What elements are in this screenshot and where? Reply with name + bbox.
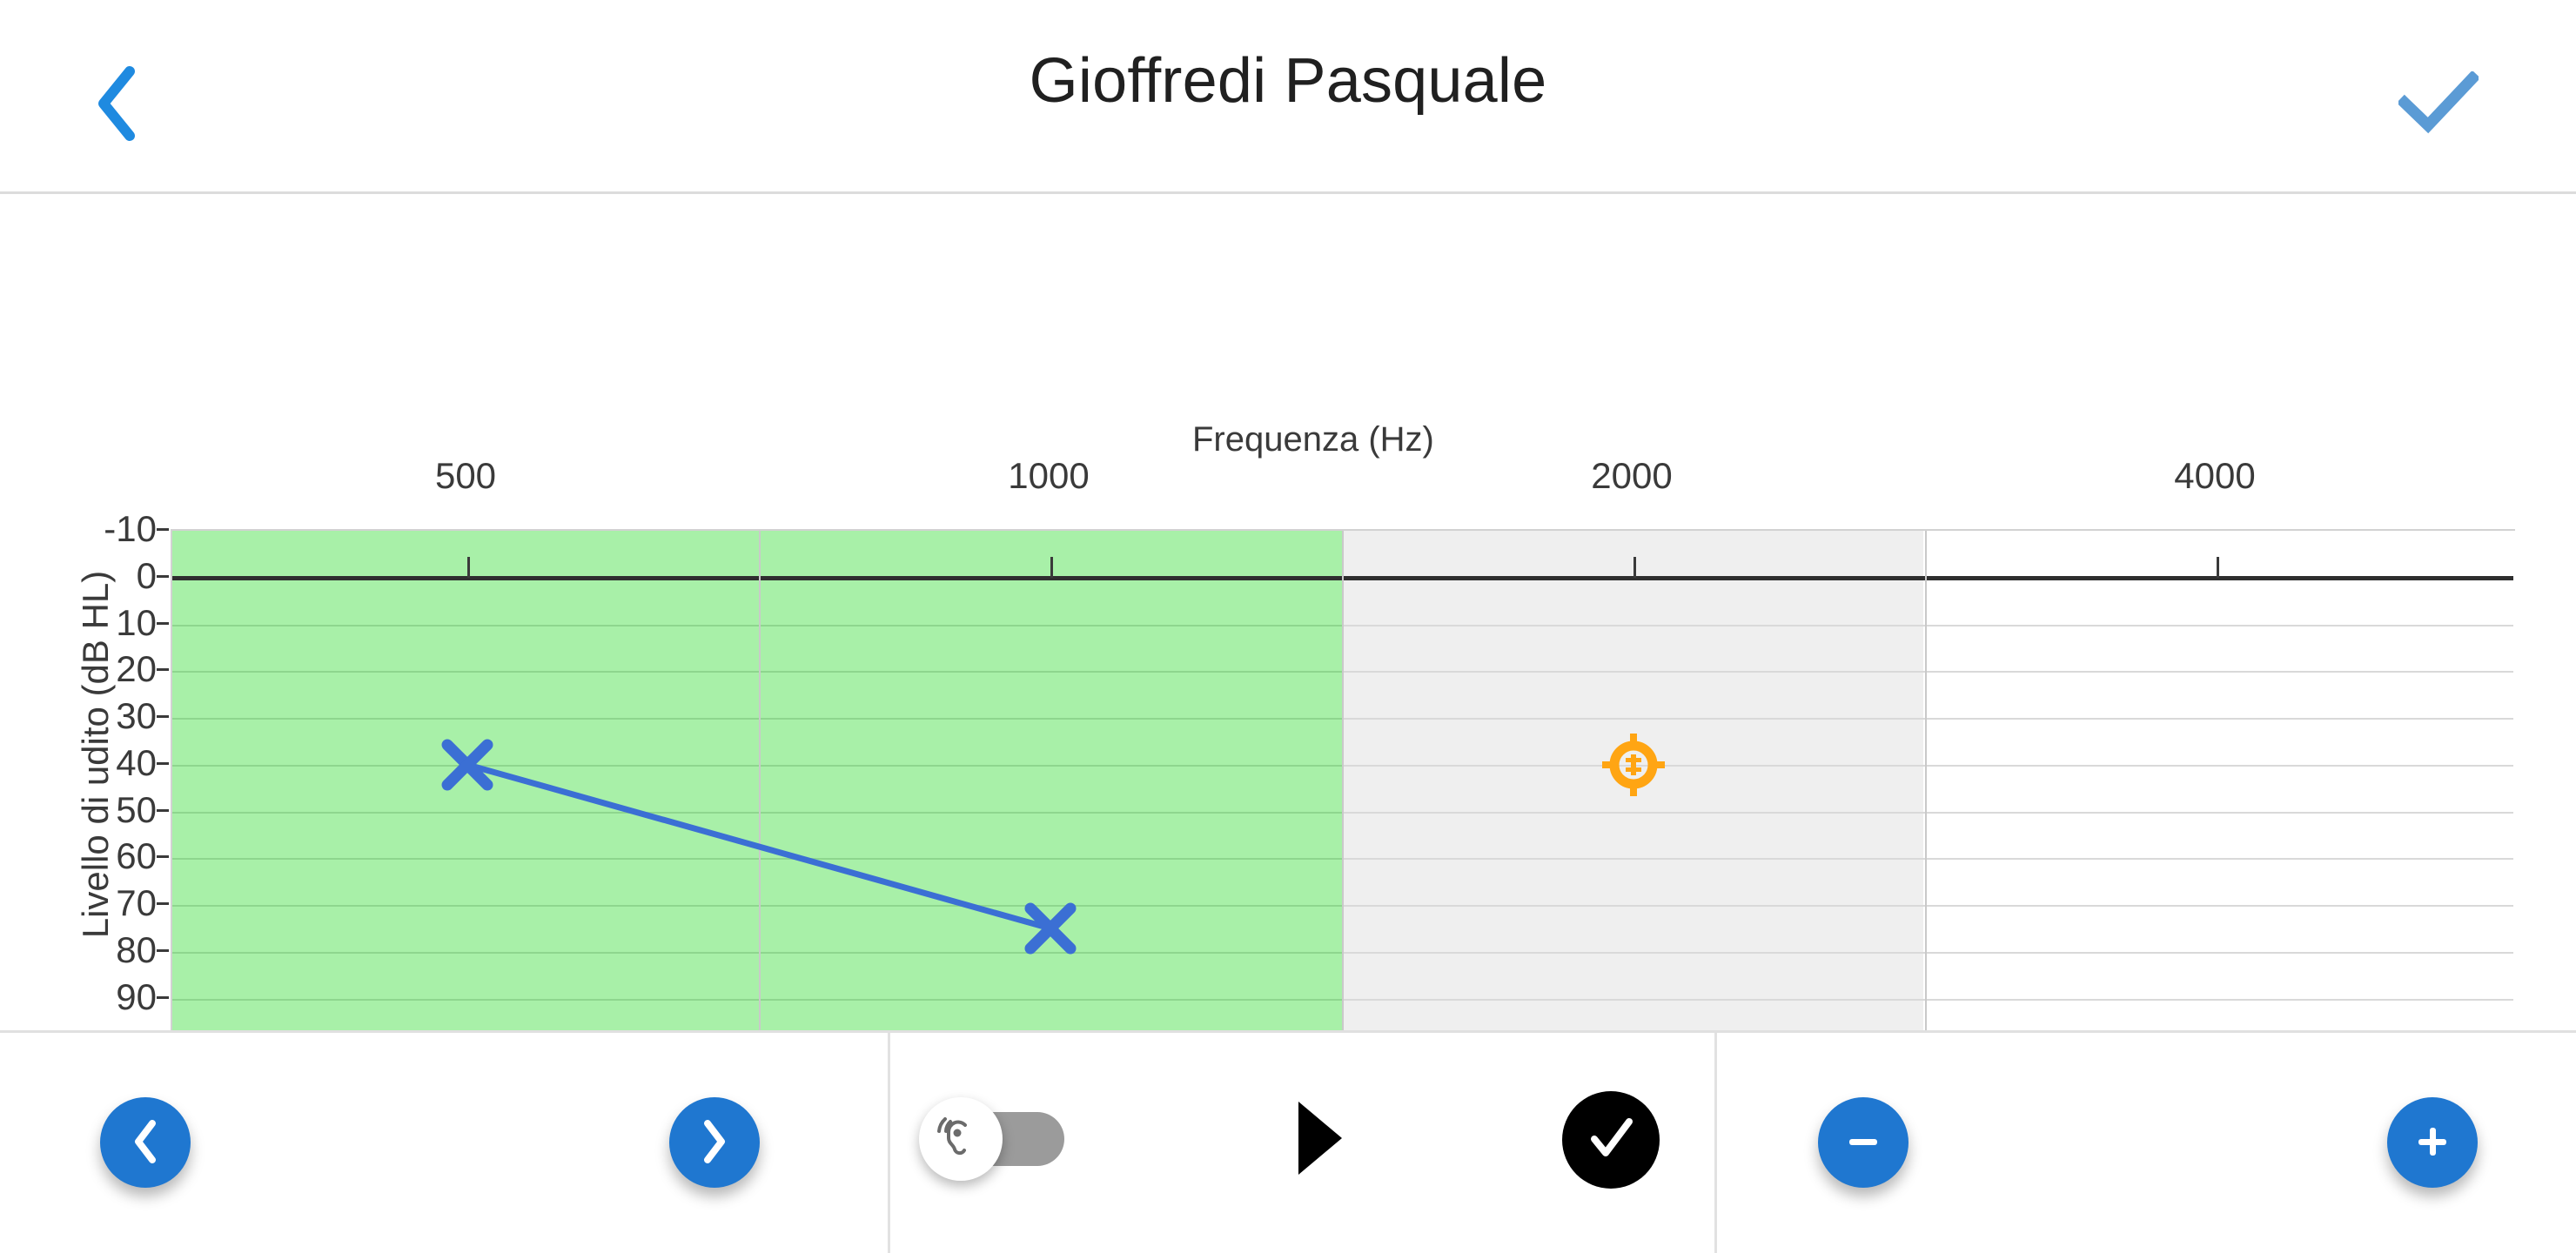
current-test-cursor[interactable] [1602,734,1665,796]
y-tick-label-0: 0 [9,555,157,597]
x-tick-mark-2000 [1633,557,1636,578]
y-tick-label-70: 70 [9,882,157,924]
data-point-marker[interactable] [1022,900,1079,957]
response-confirm-button[interactable] [1562,1091,1660,1189]
y-tick-mark-60 [157,855,169,858]
y-tick-label-20: 20 [9,648,157,690]
transducer-toggle[interactable] [956,1112,1064,1166]
audiometry-screen: Gioffredi Pasquale Frequenza (Hz) Livell… [0,0,2576,1253]
bottom-control-bar: Frequenza 2000 Hz [0,1033,2576,1253]
page-title: Gioffredi Pasquale [0,45,2576,117]
pressure-minus-button[interactable] [1818,1097,1909,1188]
gridline-green-90 [172,999,1344,1001]
divider-left [888,1033,890,1253]
gridline-green-30 [172,718,1344,720]
ear-hearing-icon [936,1113,985,1166]
check-icon [2398,71,2479,138]
y-tick-mark-20 [157,668,169,671]
plus-icon [2412,1122,2452,1164]
gridline-green-80 [172,952,1344,954]
x-tick-mark-500 [467,557,470,578]
x-tick-label-2000: 2000 [1591,455,1672,497]
frequency-next-button[interactable] [669,1097,760,1188]
confirm-button[interactable] [2395,61,2482,148]
x-tick-label-500: 500 [435,455,496,497]
y-tick-mark-70 [157,902,169,905]
gridline-green-20 [172,671,1344,673]
gridline-green-10 [172,625,1344,626]
divider-right [1714,1033,1717,1253]
gridline-green-60 [172,858,1344,860]
y-tick-mark-50 [157,809,169,812]
y-tick-mark-10 [157,622,169,625]
x-tick-mark-1000 [1050,557,1053,578]
x-tick-label-1000: 1000 [1008,455,1089,497]
data-point-marker[interactable] [439,736,496,794]
gridline-green-50 [172,812,1344,814]
frequency-prev-button[interactable] [100,1097,191,1188]
x-tick-mark-4000 [2217,557,2219,578]
x-axis-title: Frequenza (Hz) [1192,420,1434,459]
y-tick-label-10: 10 [9,602,157,644]
chevron-left-icon [131,1119,160,1167]
pressure-plus-button[interactable] [2387,1097,2478,1188]
y-tick-label-90: 90 [9,976,157,1018]
y-tick-mark-30 [157,715,169,718]
audiogram-chart: Frequenza (Hz) Livello di udito (dB HL) … [0,194,2576,1031]
y-tick-label-60: 60 [9,835,157,877]
y-tick-mark--10 [157,528,169,531]
y-tick-label-30: 30 [9,695,157,737]
chevron-right-icon [700,1119,729,1167]
play-button[interactable] [1279,1092,1358,1188]
y-tick-label-80: 80 [9,929,157,971]
y-tick-mark-40 [157,762,169,765]
gridline-green-40 [172,765,1344,767]
app-header: Gioffredi Pasquale [0,0,2576,193]
toggle-knob[interactable] [919,1097,1003,1181]
y-tick-mark-90 [157,996,169,999]
y-tick-label-50: 50 [9,789,157,831]
y-tick-label-40: 40 [9,742,157,784]
y-tick-label--10: -10 [9,508,157,550]
x-tick-label-4000: 4000 [2174,455,2255,497]
y-tick-mark-80 [157,949,169,952]
play-icon [1291,1098,1345,1183]
y-tick-mark-0 [157,575,169,578]
minus-icon [1843,1122,1883,1164]
check-circle-icon [1580,1108,1641,1173]
gridline-green-70 [172,905,1344,907]
